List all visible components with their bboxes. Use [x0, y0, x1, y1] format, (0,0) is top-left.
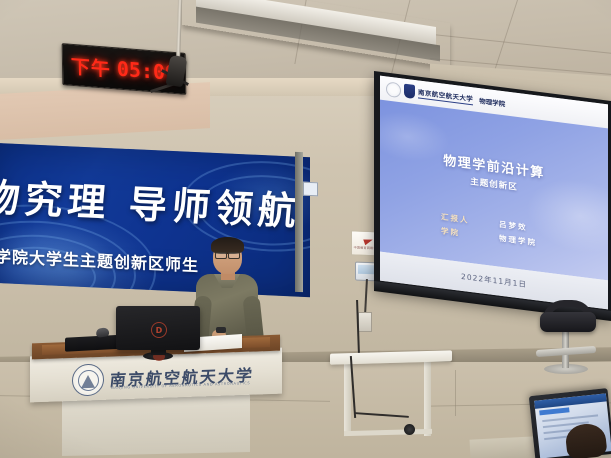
- slide-date: 2022年11月1日: [461, 271, 527, 290]
- slide-meta-label: 学院: [441, 225, 477, 241]
- bar-stool[interactable]: [540, 312, 596, 332]
- slide-university-name: 南京航空航天大学: [418, 86, 473, 105]
- banner-corner-tag: [303, 182, 318, 197]
- cart-leg: [344, 362, 351, 434]
- glasses-icon: [228, 252, 240, 259]
- event-banner: 物究理 导师领航 理学院大学生主题创新区师生: [0, 143, 310, 297]
- slide-department-name: 物理学院: [479, 95, 505, 108]
- projector-slide: 南京航空航天大学 物理学院 物理学前沿计算 主题创新区 汇报人 吕梦效 学院 物…: [380, 76, 608, 310]
- cart-wheel: [404, 424, 415, 435]
- dell-logo-icon: D: [151, 322, 167, 338]
- university-shield-icon: [404, 84, 415, 99]
- clock-ampm-label: 下午: [71, 51, 111, 81]
- glasses-icon: [215, 252, 227, 259]
- lecture-hall-scene: 下午 05:09 物究理 导师领航 理学院大学生主题创新区师生 中国教育网络电视…: [0, 0, 611, 458]
- banner-right-edge: [295, 152, 303, 292]
- presenter-remote[interactable]: [216, 327, 226, 333]
- seal-inner-ring: [78, 369, 99, 391]
- seal-emblem-icon: [81, 374, 95, 387]
- camera-icon: [363, 236, 374, 244]
- cart-leg: [424, 362, 431, 436]
- av-control-panel-screen[interactable]: [358, 265, 375, 275]
- laptop-app-tab[interactable]: [539, 407, 569, 415]
- slide-body: 物理学前沿计算 主题创新区 汇报人 吕梦效 学院 物理学院: [380, 100, 608, 281]
- slide-meta-label: 汇报人: [441, 211, 477, 227]
- wall-junction-box: [358, 312, 372, 332]
- floor-tile-line: [455, 370, 456, 416]
- slide-meta-value: 物理学院: [499, 233, 547, 250]
- university-seal-icon: [386, 81, 401, 98]
